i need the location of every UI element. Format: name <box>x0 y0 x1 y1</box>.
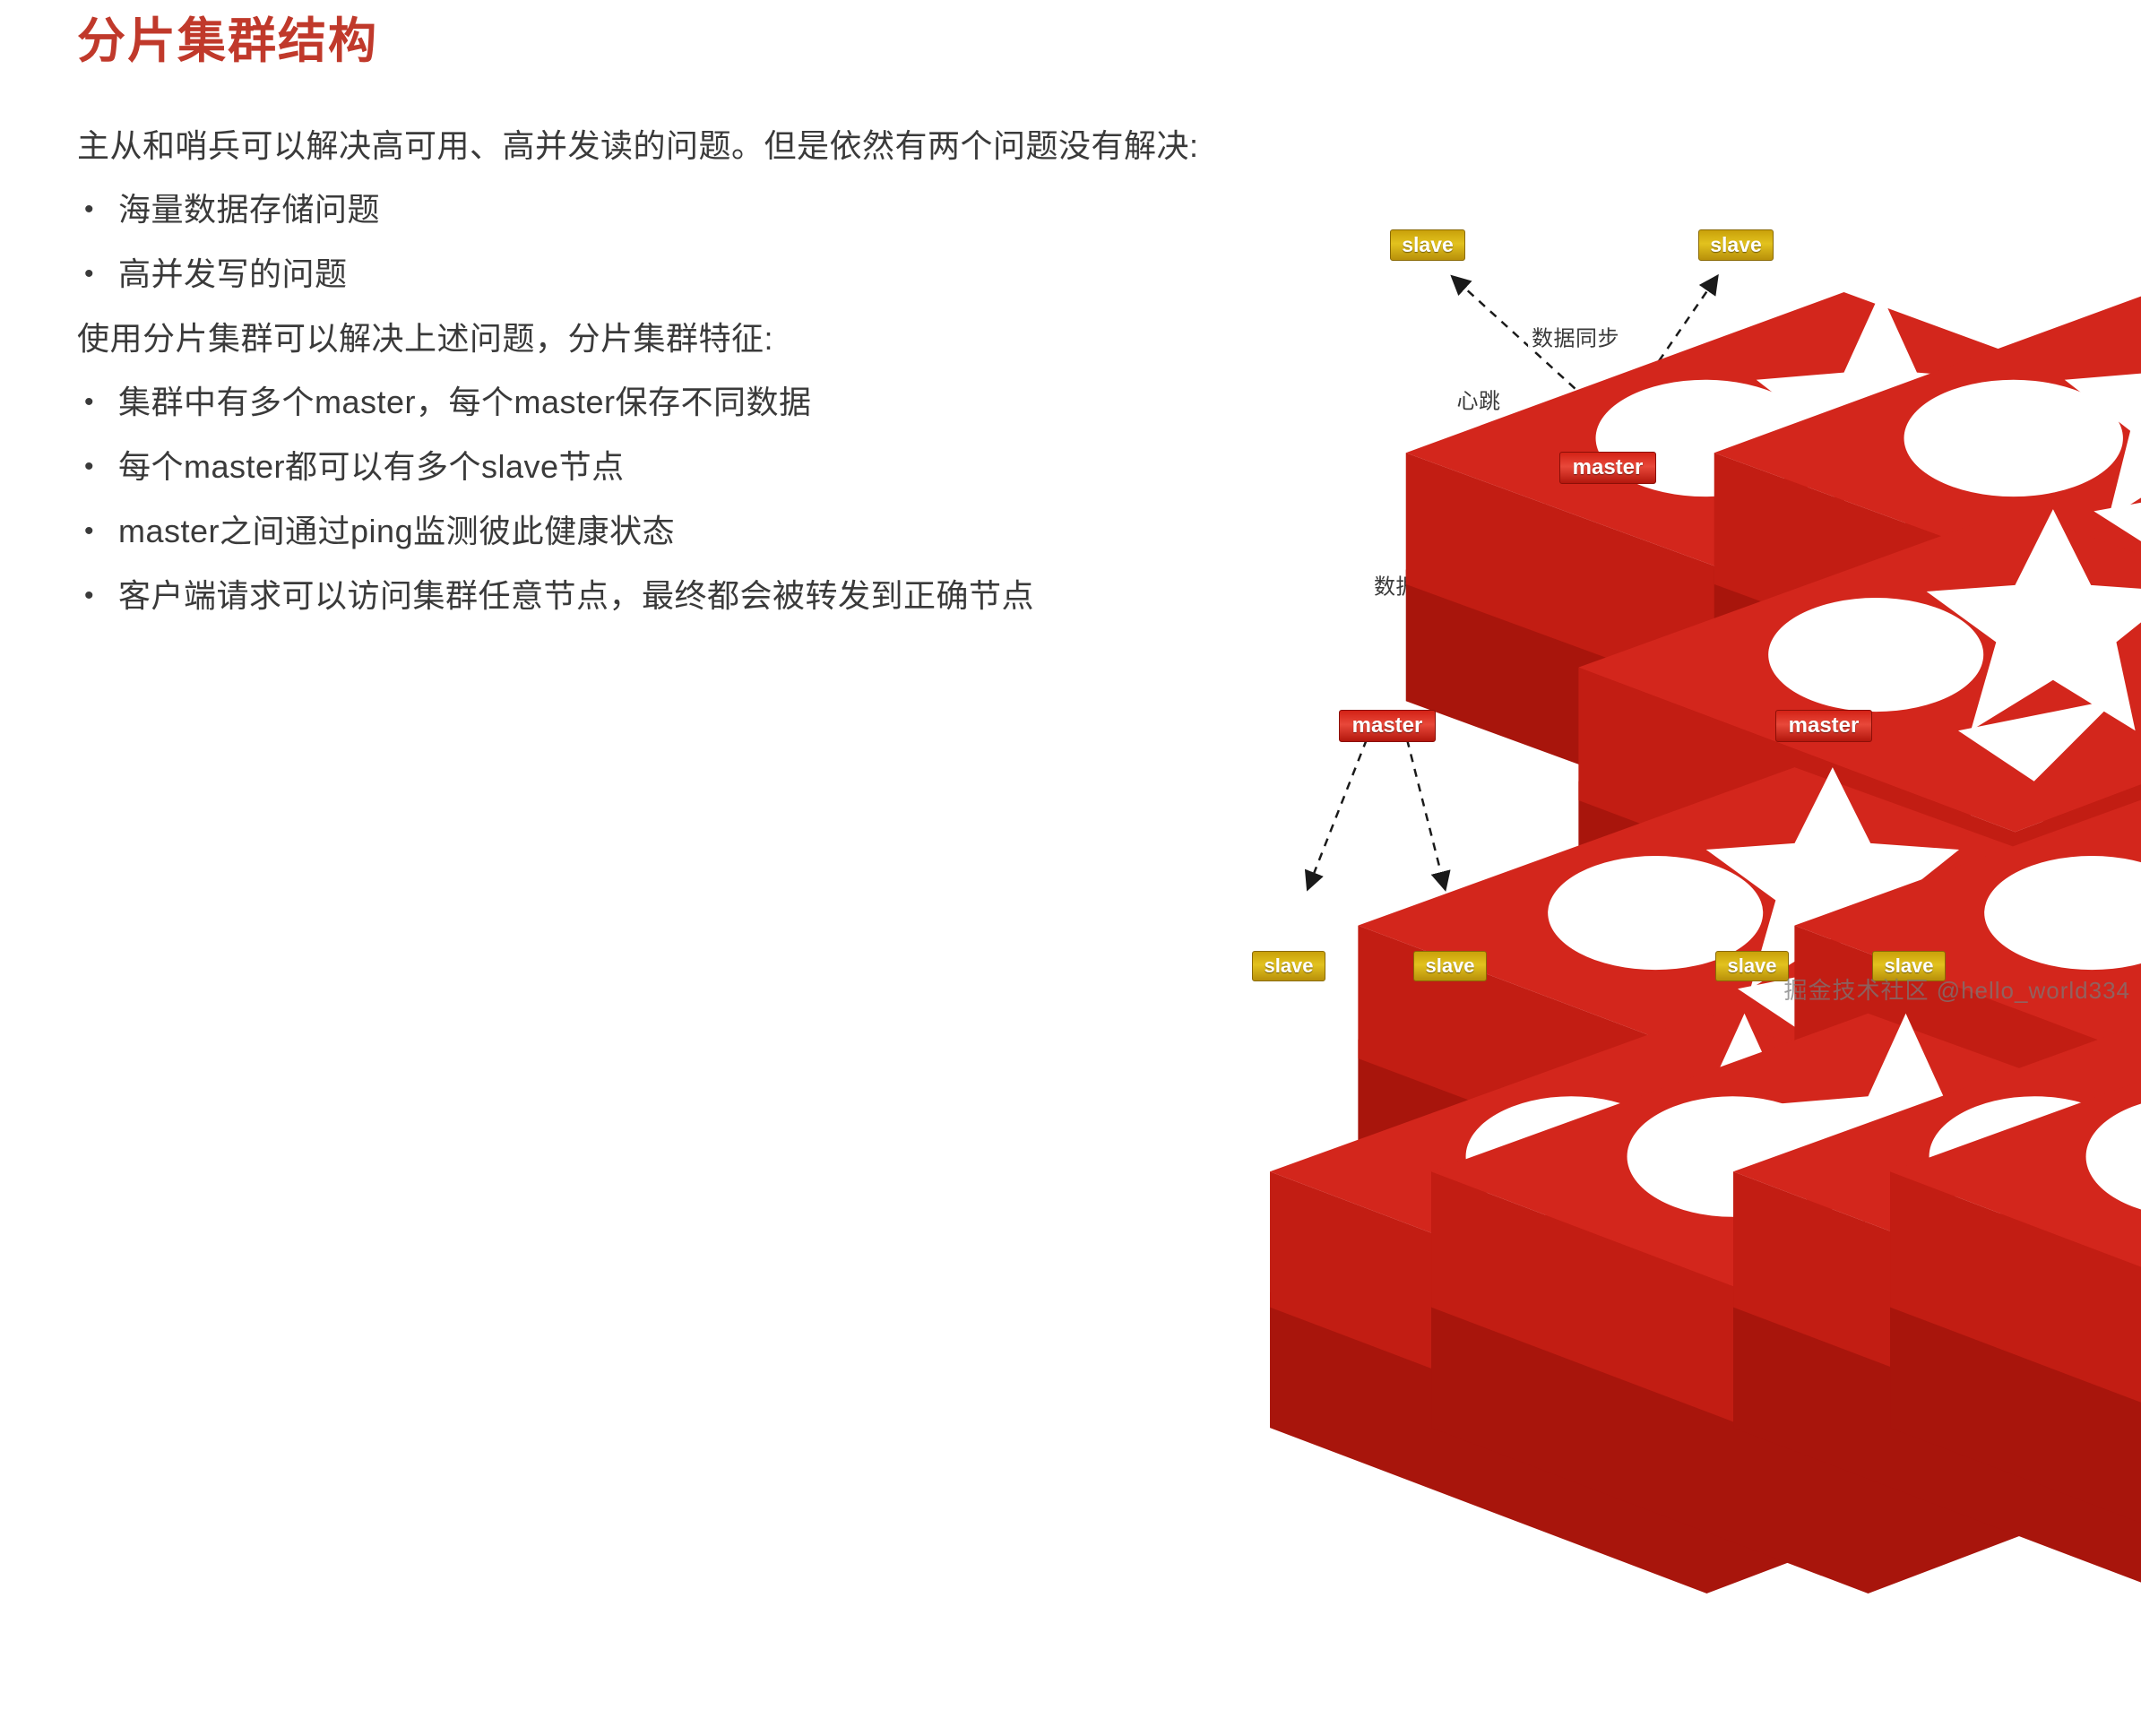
feature-text-2: master之间通过ping监测彼此健康状态 <box>118 511 675 551</box>
bullet-dot-icon: • <box>77 382 118 422</box>
slide-body: 主从和哨兵可以解决高可用、高并发读的问题。但是依然有两个问题没有解决: • 海量… <box>77 125 1242 640</box>
list-item: • 每个master都可以有多个slave节点 <box>77 446 1242 487</box>
bullet-dot-icon: • <box>77 446 118 487</box>
problem-text-0: 海量数据存储问题 <box>118 189 380 229</box>
page-title: 分片集群结构 <box>77 13 378 71</box>
node-badge-master: master <box>1775 710 1872 742</box>
list-item: • 高并发写的问题 <box>77 254 1242 294</box>
list-item: • 海量数据存储问题 <box>77 189 1242 229</box>
node-badge-slave: slave <box>1252 951 1325 981</box>
list-item: • 集群中有多个master，每个master保存不同数据 <box>77 382 1242 422</box>
intro-paragraph: 主从和哨兵可以解决高可用、高并发读的问题。但是依然有两个问题没有解决: <box>77 125 1242 166</box>
bullet-dot-icon: • <box>77 254 118 294</box>
list-item: • 客户端请求可以访问集群任意节点，最终都会被转发到正确节点 <box>77 575 1242 616</box>
node-badge-master: master <box>1559 452 1656 484</box>
problem-text-1: 高并发写的问题 <box>118 254 348 294</box>
bullet-dot-icon: • <box>77 189 118 229</box>
node-badge-slave: slave <box>1715 951 1789 981</box>
node-badge-master: master <box>1339 710 1436 742</box>
feature-text-0: 集群中有多个master，每个master保存不同数据 <box>118 382 812 422</box>
features-intro-paragraph: 使用分片集群可以解决上述问题，分片集群特征: <box>77 318 1242 358</box>
list-item: • master之间通过ping监测彼此健康状态 <box>77 511 1242 551</box>
feature-text-1: 每个master都可以有多个slave节点 <box>118 446 625 487</box>
feature-text-3: 客户端请求可以访问集群任意节点，最终都会被转发到正确节点 <box>118 575 1034 616</box>
redis-logo-icon <box>1852 894 2141 1736</box>
node-badge-slave: slave <box>1390 229 1465 261</box>
bullet-dot-icon: • <box>77 511 118 551</box>
sharded-cluster-diagram: 数据同步 心跳 心跳 心跳 数据同步 数据同步 slave <box>1192 170 2141 1013</box>
node-badge-slave: slave <box>1413 951 1487 981</box>
bullet-dot-icon: • <box>77 575 118 616</box>
node-badge-slave: slave <box>1698 229 1774 261</box>
node-badge-slave: slave <box>1872 951 1946 981</box>
